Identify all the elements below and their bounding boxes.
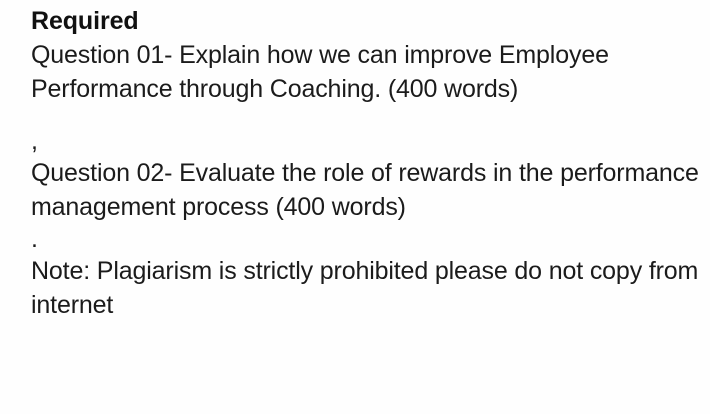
document-page: Required Question 01- Explain how we can… xyxy=(0,0,710,414)
page-title: Required xyxy=(31,4,699,38)
question-02-text: Question 02- Evaluate the role of reward… xyxy=(31,156,699,224)
question-01-text: Question 01- Explain how we can improve … xyxy=(31,38,699,106)
note-text: Note: Plagiarism is strictly prohibited … xyxy=(31,254,699,322)
document-body: Required Question 01- Explain how we can… xyxy=(31,4,699,322)
separator-period: . xyxy=(31,224,699,254)
separator-comma: , xyxy=(31,126,699,156)
